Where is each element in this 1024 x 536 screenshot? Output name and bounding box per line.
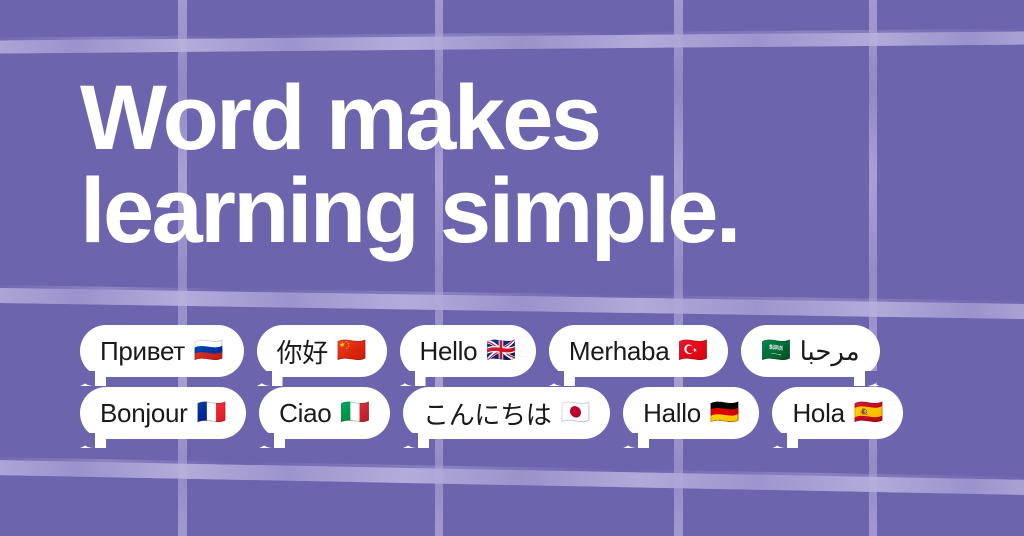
greeting-bubbles: Привет🇷🇺你好🇨🇳Hello🇬🇧Merhaba🇹🇷مرحبا🇸🇦 Bonj… (80, 325, 980, 449)
greeting-text: こんにちは (423, 395, 552, 432)
grid-horizontal-line-3 (0, 460, 1024, 495)
flag-icon-japanese: 🇯🇵 (561, 401, 591, 425)
grid-vertical-line-4 (869, 0, 877, 536)
flag-icon-chinese: 🇨🇳 (337, 339, 367, 363)
greeting-bubble-russian[interactable]: Привет🇷🇺 (80, 325, 244, 377)
greeting-bubble-turkish[interactable]: Merhaba🇹🇷 (549, 325, 728, 377)
greeting-bubble-spanish[interactable]: Hola🇪🇸 (772, 387, 903, 439)
greeting-bubble-japanese[interactable]: こんにちは🇯🇵 (403, 387, 610, 439)
greeting-bubble-french[interactable]: Bonjour🇫🇷 (80, 387, 246, 439)
greeting-bubble-chinese[interactable]: 你好🇨🇳 (257, 325, 387, 377)
page-title: Word makes learning simple. (80, 72, 739, 258)
greeting-text: مرحبا (800, 336, 860, 367)
flag-icon-italian: 🇮🇹 (340, 401, 370, 425)
greeting-bubble-arabic[interactable]: مرحبا🇸🇦 (741, 325, 880, 377)
greeting-text: Hello (420, 336, 478, 367)
flag-icon-turkish: 🇹🇷 (678, 339, 708, 363)
grid-horizontal-line-2 (0, 288, 1024, 320)
greeting-bubble-german[interactable]: Hallo🇩🇪 (623, 387, 759, 439)
greeting-text: Hola (792, 398, 844, 429)
greeting-bubble-english[interactable]: Hello🇬🇧 (400, 325, 536, 377)
greeting-bubble-italian[interactable]: Ciao🇮🇹 (259, 387, 390, 439)
greeting-text: Merhaba (569, 336, 670, 367)
promo-banner: Word makes learning simple. Привет🇷🇺你好🇨🇳… (0, 0, 1024, 536)
flag-icon-french: 🇫🇷 (197, 401, 227, 425)
greeting-text: Hallo (643, 398, 701, 429)
greeting-text: Bonjour (100, 398, 188, 429)
flag-icon-german: 🇩🇪 (710, 401, 740, 425)
greeting-row-2: Bonjour🇫🇷Ciao🇮🇹こんにちは🇯🇵Hallo🇩🇪Hola🇪🇸 (80, 387, 980, 439)
flag-icon-arabic: 🇸🇦 (761, 339, 791, 363)
greeting-row-1: Привет🇷🇺你好🇨🇳Hello🇬🇧Merhaba🇹🇷مرحبا🇸🇦 (80, 325, 980, 377)
flag-icon-spanish: 🇪🇸 (854, 401, 884, 425)
greeting-text: 你好 (277, 333, 328, 370)
greeting-text: Ciao (279, 398, 331, 429)
flag-icon-russian: 🇷🇺 (194, 339, 224, 363)
greeting-text: Привет (100, 336, 185, 367)
grid-horizontal-line-1 (0, 31, 1024, 53)
flag-icon-english: 🇬🇧 (486, 339, 516, 363)
